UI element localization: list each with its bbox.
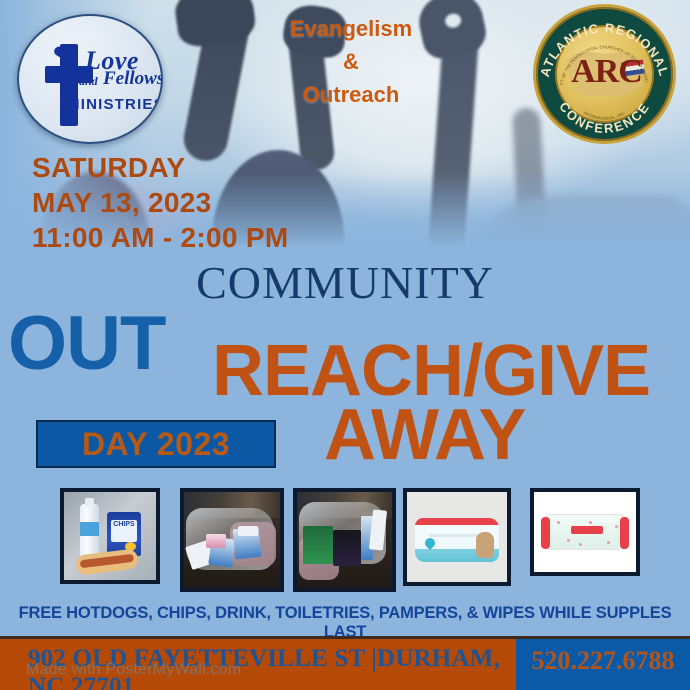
- title-out: OUT: [8, 306, 165, 382]
- photo-wipes-pack: [403, 488, 511, 586]
- logo-wordmark-ministries: MINISTRIES: [67, 96, 163, 113]
- phone-bar: 520.227.6788: [516, 639, 690, 690]
- seal-curved-text: ATLANTIC REGIONAL CONFERENCE DISTRICT OF…: [533, 4, 676, 144]
- atlantic-regional-conference-seal: ARC ATLANTIC REGIONAL CONFERENCE DISTRIC…: [533, 4, 676, 144]
- photo-toiletry-bags: [180, 488, 284, 592]
- photo-food-items: CHIPS: [60, 488, 160, 584]
- day-2023-badge: DAY 2023: [36, 420, 276, 468]
- logo-script-fellowship: Fellowship: [103, 68, 163, 90]
- event-datetime-block: SATURDAY MAY 13, 2023 11:00 AM - 2:00 PM: [32, 150, 288, 255]
- contact-phone: 520.227.6788: [516, 646, 690, 676]
- title-away: AWAY: [324, 398, 525, 472]
- ministry-line-1: Evangelism: [256, 12, 446, 45]
- wipes-package-graphic: [415, 518, 499, 562]
- event-day: SATURDAY: [32, 150, 288, 185]
- ministry-department-heading: Evangelism & Outreach: [256, 12, 446, 111]
- giveaway-photo-strip: CHIPS: [0, 488, 690, 592]
- day-2023-label: DAY 2023: [82, 426, 230, 463]
- love-fellowship-ministries-logo: ❤ Love and Fellowship MINISTRIES: [17, 14, 163, 144]
- wipes-package-graphic-2: [544, 514, 626, 550]
- photo-toiletry-bags-2: [293, 488, 396, 592]
- postermywall-watermark: Made with PosterMyWall.com: [26, 661, 241, 679]
- event-time: 11:00 AM - 2:00 PM: [32, 220, 288, 255]
- ministry-line-3: Outreach: [256, 78, 446, 111]
- photo-wipes-pack-2: [530, 488, 640, 576]
- logo-script-and: and: [79, 74, 98, 89]
- ministry-line-2: &: [256, 45, 446, 78]
- poster-canvas: ❤ Love and Fellowship MINISTRIES ARC ATL…: [0, 0, 690, 690]
- event-date: MAY 13, 2023: [32, 185, 288, 220]
- heart-icon: ❤: [51, 44, 77, 68]
